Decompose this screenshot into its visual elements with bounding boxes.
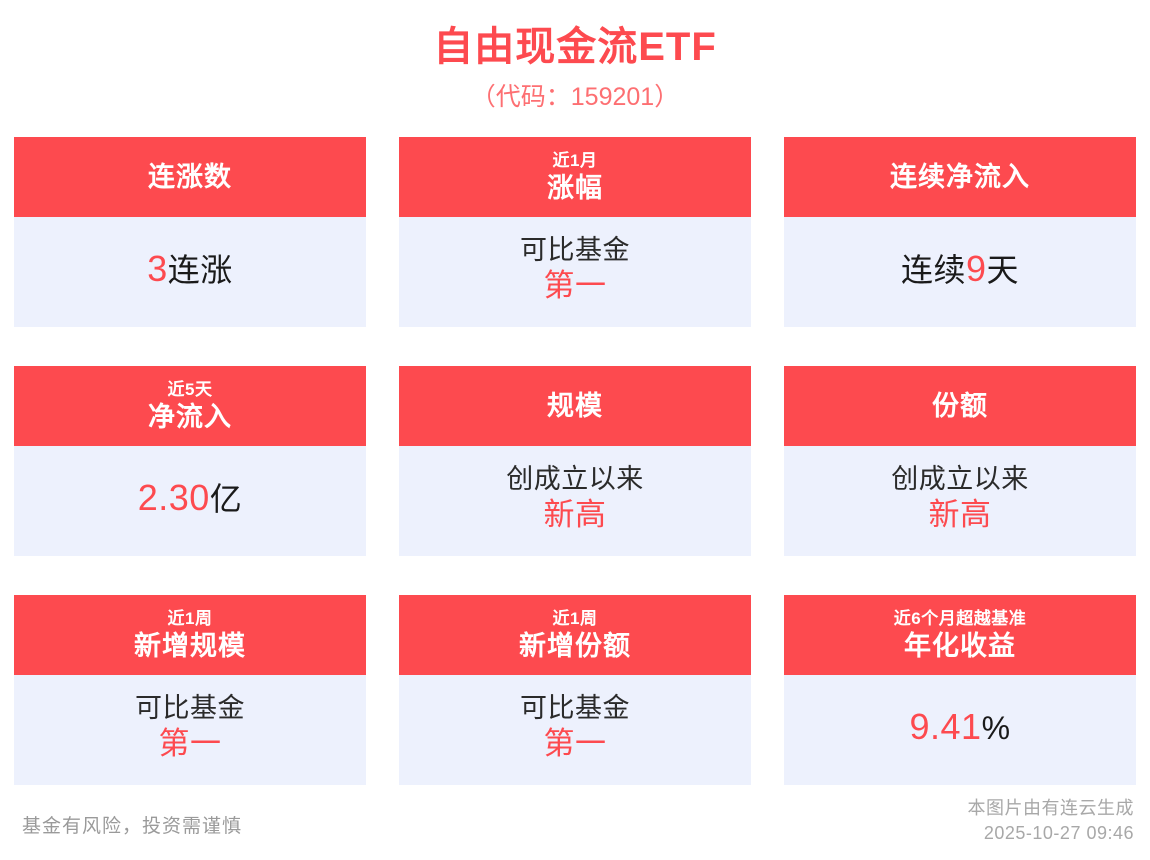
card-value: 连续9天 xyxy=(901,247,1019,292)
card-value-line2: 第一 xyxy=(544,267,607,305)
card-heading: 连涨数 xyxy=(148,161,232,194)
card-heading: 年化收益 xyxy=(904,630,1016,663)
card-value-highlight: 3 xyxy=(147,248,168,289)
card-heading: 净流入 xyxy=(148,401,232,434)
card-body: 创成立以来 新高 xyxy=(399,446,751,556)
card-header: 近1周 新增规模 xyxy=(14,595,366,675)
card-header: 份额 xyxy=(784,366,1136,446)
generation-info: 本图片由有连云生成 2025-10-27 09:46 xyxy=(968,796,1135,846)
metric-card-grid: 连涨数 3连涨 近1月 涨幅 可比基金 第一 连续净流入 连续9天 xyxy=(14,137,1136,785)
card-heading: 涨幅 xyxy=(547,172,603,205)
risk-disclaimer: 基金有风险，投资需谨慎 xyxy=(22,811,242,838)
card-header: 规模 xyxy=(399,366,751,446)
card-value-line2: 新高 xyxy=(929,496,992,534)
card-heading: 规模 xyxy=(547,390,603,423)
metric-card-zhangfu: 近1月 涨幅 可比基金 第一 xyxy=(399,137,751,327)
card-header: 连涨数 xyxy=(14,137,366,217)
metric-card-nianhua-shouyi: 近6个月超越基准 年化收益 9.41% xyxy=(784,595,1136,785)
card-value-line1: 可比基金 xyxy=(520,233,630,267)
card-value-suffix: 天 xyxy=(987,252,1020,288)
card-value-line2: 新高 xyxy=(544,496,607,534)
card-header: 近6个月超越基准 年化收益 xyxy=(784,595,1136,675)
card-value-prefix: 连续 xyxy=(901,252,966,288)
card-heading: 份额 xyxy=(932,390,988,423)
card-value-highlight: 9.41 xyxy=(909,706,981,747)
card-header: 连续净流入 xyxy=(784,137,1136,217)
card-header: 近1月 涨幅 xyxy=(399,137,751,217)
generated-by-label: 本图片由有连云生成 xyxy=(968,796,1135,821)
card-body: 可比基金 第一 xyxy=(399,675,751,785)
card-header: 近5天 净流入 xyxy=(14,366,366,446)
card-value-highlight: 9 xyxy=(966,248,987,289)
metric-card-guimo: 规模 创成立以来 新高 xyxy=(399,366,751,556)
metric-card-xinzeng-guimo: 近1周 新增规模 可比基金 第一 xyxy=(14,595,366,785)
card-value-line1: 可比基金 xyxy=(520,691,630,725)
card-eyebrow: 近1周 xyxy=(553,608,598,630)
etf-summary-page: 自由现金流ETF （代码：159201） 连涨数 3连涨 近1月 涨幅 可比基金… xyxy=(0,0,1150,860)
card-value-unit: 亿 xyxy=(210,481,243,517)
card-value-unit: % xyxy=(982,710,1011,746)
card-value: 3连涨 xyxy=(147,247,233,292)
card-heading: 新增份额 xyxy=(519,630,631,663)
card-value-line1: 创成立以来 xyxy=(506,462,644,496)
card-eyebrow: 近5天 xyxy=(168,379,213,401)
card-eyebrow: 近6个月超越基准 xyxy=(894,608,1026,630)
card-value-highlight: 2.30 xyxy=(138,477,210,518)
metric-card-fene: 份额 创成立以来 新高 xyxy=(784,366,1136,556)
card-body: 9.41% xyxy=(784,675,1136,785)
card-body: 3连涨 xyxy=(14,217,366,327)
card-eyebrow: 近1月 xyxy=(553,150,598,172)
card-value-line1: 可比基金 xyxy=(135,691,245,725)
fund-code-subtitle: （代码：159201） xyxy=(0,78,1150,116)
card-body: 可比基金 第一 xyxy=(399,217,751,327)
card-body: 创成立以来 新高 xyxy=(784,446,1136,556)
card-heading: 新增规模 xyxy=(134,630,246,663)
metric-card-lianzhangshu: 连涨数 3连涨 xyxy=(14,137,366,327)
page-title: 自由现金流ETF xyxy=(0,20,1150,74)
page-header: 自由现金流ETF （代码：159201） xyxy=(0,0,1150,116)
card-value-line2: 第一 xyxy=(544,725,607,763)
card-eyebrow: 近1周 xyxy=(168,608,213,630)
card-body: 可比基金 第一 xyxy=(14,675,366,785)
card-value: 9.41% xyxy=(909,705,1010,750)
card-body: 2.30亿 xyxy=(14,446,366,556)
metric-card-xinzeng-fene: 近1周 新增份额 可比基金 第一 xyxy=(399,595,751,785)
card-heading: 连续净流入 xyxy=(890,161,1030,194)
card-value: 2.30亿 xyxy=(138,476,243,521)
generated-at-timestamp: 2025-10-27 09:46 xyxy=(968,821,1135,846)
card-value-line2: 第一 xyxy=(159,725,222,763)
card-value-line1: 创成立以来 xyxy=(891,462,1029,496)
metric-card-jingliuru: 近5天 净流入 2.30亿 xyxy=(14,366,366,556)
card-value-unit: 连涨 xyxy=(168,252,233,288)
card-header: 近1周 新增份额 xyxy=(399,595,751,675)
metric-card-lianxu-jingliuru: 连续净流入 连续9天 xyxy=(784,137,1136,327)
card-body: 连续9天 xyxy=(784,217,1136,327)
